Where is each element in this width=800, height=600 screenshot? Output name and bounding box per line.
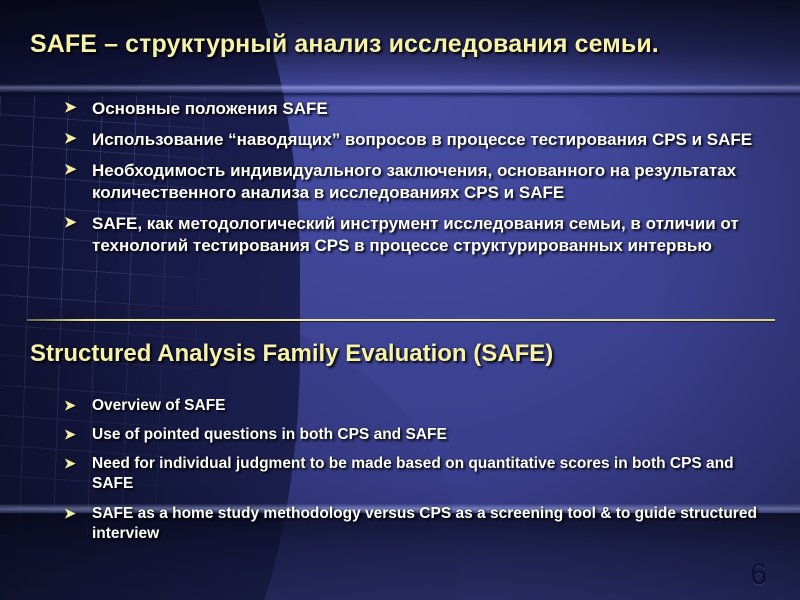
arrow-bullet-icon: ➤: [64, 426, 80, 442]
list-item-label: SAFE, как методологический инструмент ис…: [92, 214, 739, 255]
list-item-label: Need for individual judgment to be made …: [92, 455, 734, 492]
slide-content: SAFE – структурный анализ исследования с…: [0, 0, 800, 600]
section-divider: [27, 319, 775, 321]
list-item: ➤ Основные положения SAFE: [62, 98, 778, 120]
list-item: ➤ Need for individual judgment to be mad…: [62, 454, 778, 494]
arrow-bullet-icon: ➤: [64, 100, 80, 116]
list-item: ➤ Необходимость индивидуального заключен…: [62, 160, 778, 204]
list-item-label: Основные положения SAFE: [92, 99, 328, 118]
arrow-bullet-icon: ➤: [64, 215, 80, 231]
page-number: 6: [750, 558, 767, 592]
russian-bullet-list: ➤ Основные положения SAFE ➤ Использовани…: [62, 98, 778, 267]
arrow-bullet-icon: ➤: [64, 131, 80, 147]
list-item-label: Использование “наводящих” вопросов в про…: [92, 130, 752, 149]
list-item: ➤ Использование “наводящих” вопросов в п…: [62, 129, 778, 151]
list-item: ➤ SAFE as a home study methodology versu…: [62, 504, 778, 544]
arrow-bullet-icon: ➤: [64, 162, 80, 178]
list-item-label: Overview of SAFE: [92, 397, 226, 414]
arrow-bullet-icon: ➤: [64, 455, 80, 471]
presentation-slide: SAFE – структурный анализ исследования с…: [0, 0, 800, 600]
arrow-bullet-icon: ➤: [64, 397, 80, 413]
slide-title: SAFE – структурный анализ исследования с…: [30, 30, 780, 59]
list-item: ➤ Overview of SAFE: [62, 396, 778, 416]
list-item: ➤ Use of pointed questions in both CPS a…: [62, 425, 778, 445]
list-item-label: Use of pointed questions in both CPS and…: [92, 426, 447, 443]
arrow-bullet-icon: ➤: [64, 505, 80, 521]
list-item-label: SAFE as a home study methodology versus …: [92, 505, 757, 542]
list-item-label: Необходимость индивидуального заключения…: [92, 161, 736, 202]
english-bullet-list: ➤ Overview of SAFE ➤ Use of pointed ques…: [62, 396, 778, 553]
section-heading: Structured Analysis Family Evaluation (S…: [30, 340, 770, 368]
list-item: ➤ SAFE, как методологический инструмент …: [62, 213, 778, 257]
